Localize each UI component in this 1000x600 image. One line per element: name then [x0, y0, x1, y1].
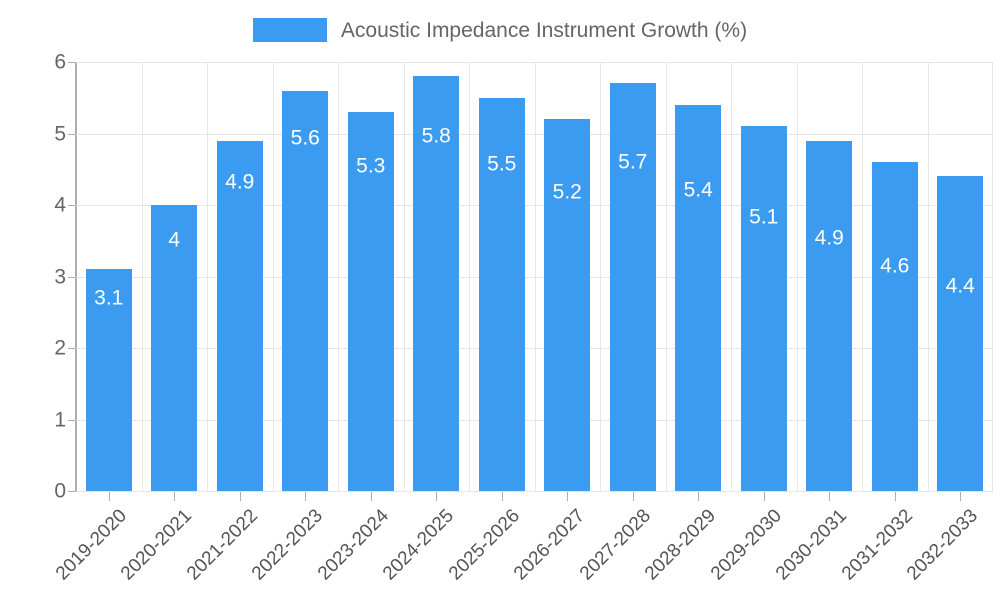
gridline-vertical	[797, 62, 798, 491]
bar-value-label: 5.7	[618, 152, 647, 173]
y-axis-tick-mark	[68, 205, 76, 206]
y-axis-tick-mark	[68, 491, 76, 492]
y-axis-tick-label: 5	[4, 123, 66, 144]
x-axis-tick-mark	[829, 492, 830, 501]
x-axis-tick-mark	[764, 492, 765, 501]
y-axis-tick-mark	[68, 62, 76, 63]
legend-color-swatch	[253, 18, 327, 42]
x-axis-tick-mark	[960, 492, 961, 501]
bar-value-label: 4.9	[815, 227, 844, 248]
bar-chart-figure: Acoustic Impedance Instrument Growth (%)…	[0, 0, 1000, 600]
y-axis-tick-label: 6	[4, 52, 66, 73]
y-axis-tick-mark	[68, 134, 76, 135]
gridline-vertical	[731, 62, 732, 491]
bar-value-label: 4.4	[946, 276, 975, 297]
legend-label: Acoustic Impedance Instrument Growth (%)	[341, 20, 747, 41]
gridline-vertical	[338, 62, 339, 491]
bar-value-label: 5.2	[553, 181, 582, 202]
x-axis-tick-mark	[174, 492, 175, 501]
gridline-vertical	[666, 62, 667, 491]
gridline-vertical	[535, 62, 536, 491]
gridline-vertical	[469, 62, 470, 491]
x-axis-tick-mark	[371, 492, 372, 501]
x-axis-tick-mark	[436, 492, 437, 501]
y-axis-tick-labels: 0123456	[0, 0, 66, 600]
x-axis-tick-mark	[895, 492, 896, 501]
bar[interactable]	[937, 176, 983, 491]
y-axis-tick-label: 4	[4, 195, 66, 216]
bar[interactable]	[872, 162, 918, 491]
bar[interactable]	[610, 83, 656, 491]
gridline-vertical	[600, 62, 601, 491]
y-axis-tick-mark	[68, 348, 76, 349]
bar[interactable]	[806, 141, 852, 491]
gridline-vertical	[404, 62, 405, 491]
y-axis-tick-mark	[68, 277, 76, 278]
bar-value-label: 4	[168, 230, 180, 251]
y-axis-tick-label: 3	[4, 266, 66, 287]
x-axis-tick-label: 2020-2021	[118, 506, 196, 584]
gridline-vertical	[273, 62, 274, 491]
x-axis-tick-mark	[633, 492, 634, 501]
x-axis-tick-mark	[502, 492, 503, 501]
y-axis-tick-label: 1	[4, 409, 66, 430]
bar-value-label: 5.8	[422, 126, 451, 147]
x-axis-tick-mark	[305, 492, 306, 501]
bar-value-label: 5.4	[684, 179, 713, 200]
bar[interactable]	[544, 119, 590, 491]
gridline-vertical	[207, 62, 208, 491]
x-axis-tick-mark	[109, 492, 110, 501]
x-axis-tick-label: 2030-2031	[773, 506, 851, 584]
y-axis-tick-label: 0	[4, 481, 66, 502]
x-axis-tick-mark	[567, 492, 568, 501]
x-axis-tick-label: 2022-2023	[249, 506, 327, 584]
x-axis-tick-mark	[698, 492, 699, 501]
x-axis-tick-label: 2032-2033	[904, 506, 982, 584]
plot-area: 3.144.95.65.35.85.55.25.75.45.14.94.64.4	[76, 62, 993, 491]
chart-legend: Acoustic Impedance Instrument Growth (%)	[0, 14, 1000, 46]
gridline-vertical	[928, 62, 929, 491]
gridline-horizontal	[76, 491, 993, 492]
bar-value-label: 4.6	[880, 255, 909, 276]
bar-value-label: 5.6	[291, 128, 320, 149]
y-axis-tick-label: 2	[4, 338, 66, 359]
bar-value-label: 5.5	[487, 153, 516, 174]
bar-value-label: 3.1	[94, 288, 123, 309]
x-axis-tick-mark	[240, 492, 241, 501]
bar[interactable]	[282, 91, 328, 491]
gridline-vertical	[142, 62, 143, 491]
y-axis-tick-mark	[68, 420, 76, 421]
gridline-vertical	[992, 62, 993, 491]
bar-value-label: 5.3	[356, 155, 385, 176]
x-axis-tick-label: 2028-2029	[642, 506, 720, 584]
bar[interactable]	[675, 105, 721, 491]
bar-value-label: 5.1	[749, 207, 778, 228]
gridline-vertical	[862, 62, 863, 491]
x-axis-tick-label: 2026-2027	[511, 506, 589, 584]
bar[interactable]	[741, 126, 787, 491]
bar-value-label: 4.9	[225, 172, 254, 193]
